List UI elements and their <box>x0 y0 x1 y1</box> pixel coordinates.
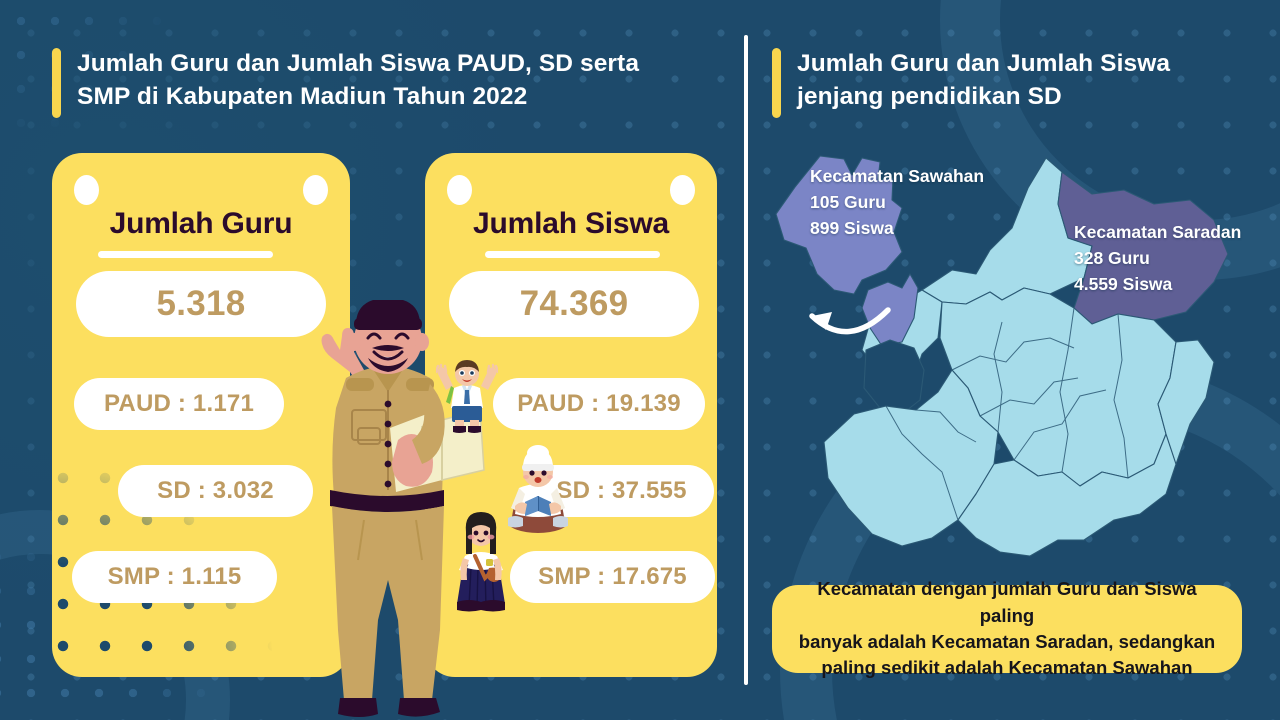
callout-sawahan: Kecamatan Sawahan 105 Guru 899 Siswa <box>810 164 984 242</box>
student-paud-illustration <box>436 360 498 436</box>
student-smp-illustration <box>451 506 511 616</box>
card-heading: Jumlah Siswa <box>425 207 717 241</box>
title-accent-bar <box>772 48 781 118</box>
right-panel-title: Jumlah Guru dan Jumlah Siswa jenjang pen… <box>772 48 1242 118</box>
card-row-smp: SMP : 17.675 <box>510 551 715 603</box>
card-heading-underline <box>485 251 660 258</box>
summary-note-box: Kecamatan dengan jumlah Guru dan Siswa p… <box>772 585 1242 673</box>
card-row-smp: SMP : 1.115 <box>72 551 277 603</box>
infographic-canvas: Jumlah Guru dan Jumlah Siswa PAUD, SD se… <box>0 0 1280 720</box>
student-sd-illustration <box>505 444 571 536</box>
map-region-dark-navy <box>864 340 924 414</box>
card-row-paud: PAUD : 19.139 <box>493 378 705 430</box>
title-accent-bar <box>52 48 61 118</box>
left-panel-title: Jumlah Guru dan Jumlah Siswa PAUD, SD se… <box>52 48 712 118</box>
card-heading: Jumlah Guru <box>52 207 350 241</box>
card-punch-hole-right <box>303 175 328 205</box>
card-heading-underline <box>98 251 273 258</box>
madiun-district-map: Kecamatan Sawahan 105 Guru 899 Siswa Kec… <box>762 142 1262 582</box>
callout-saradan: Kecamatan Saradan 328 Guru 4.559 Siswa <box>1074 220 1241 298</box>
card-punch-hole-right <box>670 175 695 205</box>
left-title-text: Jumlah Guru dan Jumlah Siswa PAUD, SD se… <box>77 48 639 113</box>
card-punch-hole-left <box>447 175 472 205</box>
card-row-paud: PAUD : 1.171 <box>74 378 284 430</box>
right-title-text: Jumlah Guru dan Jumlah Siswa jenjang pen… <box>797 48 1170 113</box>
panel-divider <box>744 35 748 685</box>
card-punch-hole-left <box>74 175 99 205</box>
